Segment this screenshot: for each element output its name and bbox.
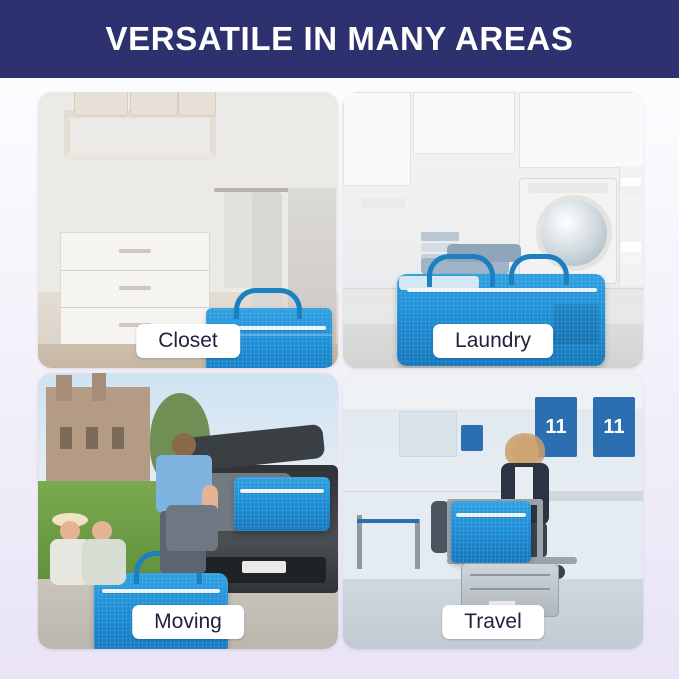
bag-handle xyxy=(509,254,569,285)
queue-post xyxy=(357,515,362,569)
wall-panel xyxy=(399,411,457,457)
storage-bag xyxy=(451,501,531,563)
counter-sign-right: 11 xyxy=(593,397,635,457)
laundry-cabinet xyxy=(343,92,411,186)
caption-moving: Moving xyxy=(132,605,244,639)
counter-number: 11 xyxy=(603,416,624,439)
laundry-cabinet xyxy=(413,92,515,154)
caption-laundry: Laundry xyxy=(433,324,553,358)
storage-bag xyxy=(234,477,330,531)
caption-closet: Closet xyxy=(136,324,240,358)
header-band: VERSATILE IN MANY AREAS xyxy=(0,0,679,78)
card-travel[interactable]: 11 11 xyxy=(343,373,643,649)
card-closet[interactable]: Closet xyxy=(38,92,338,368)
closet-box xyxy=(74,92,128,116)
closet-box xyxy=(130,92,178,116)
queue-belt xyxy=(357,519,419,523)
feature-grid: Closet xyxy=(38,92,642,652)
bag-handle xyxy=(427,254,495,287)
queue-post xyxy=(415,519,420,569)
carried-bag xyxy=(166,505,218,551)
closet-box xyxy=(178,92,216,116)
caption-travel: Travel xyxy=(442,605,544,639)
counter-sign-small xyxy=(461,425,483,451)
poster: VERSATILE IN MANY AREAS xyxy=(0,0,679,679)
closet-shelf-divider xyxy=(210,118,216,154)
closet-shelf-divider xyxy=(64,118,70,154)
counter-number: 11 xyxy=(545,416,566,439)
card-laundry[interactable]: Laundry xyxy=(343,92,643,368)
card-moving[interactable]: Moving xyxy=(38,373,338,649)
laundry-cabinet xyxy=(519,92,643,168)
background-building xyxy=(46,387,150,491)
closet-shelf xyxy=(64,154,216,160)
bag-handle xyxy=(234,288,302,319)
page-title: VERSATILE IN MANY AREAS xyxy=(106,20,574,58)
